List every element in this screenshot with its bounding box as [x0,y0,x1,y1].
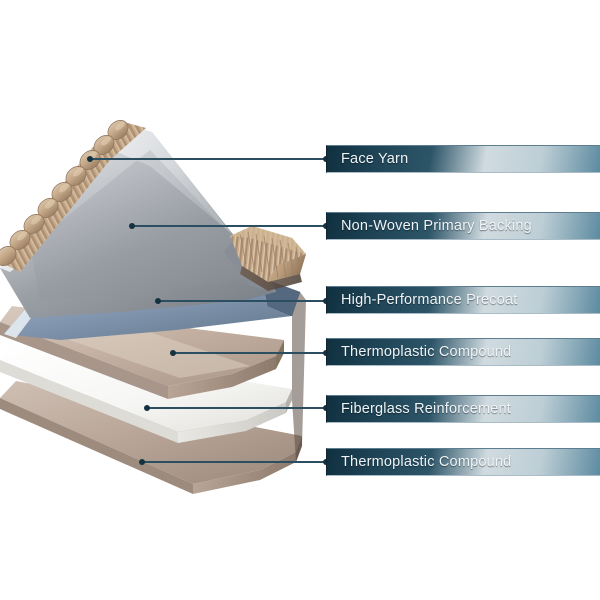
leader-line-face-yarn [90,158,326,160]
callout-label-non-woven-primary-backing: Non-Woven Primary Backing [327,218,532,234]
diagram-canvas: Face Yarn Non-Woven Primary Backing High… [0,0,600,600]
callout-label-thermoplastic-compound-upper: Thermoplastic Compound [327,344,511,360]
layer-artwork-precoat [4,278,300,340]
callout-high-performance-precoat[interactable]: High-Performance Precoat [326,286,600,314]
layer-artwork-fiberglass [0,344,292,443]
stack-cut-edge [292,292,306,462]
callout-label-face-yarn: Face Yarn [327,151,408,167]
layer-artwork-face-yarn [0,116,306,291]
leader-line-precoat [158,300,326,302]
callout-label-fiberglass-reinforcement: Fiberglass Reinforcement [327,401,511,417]
leader-line-primary-backing [132,225,326,227]
callout-label-thermoplastic-compound-bottom: Thermoplastic Compound [327,454,511,470]
callout-label-high-performance-precoat: High-Performance Precoat [327,292,517,308]
callout-non-woven-primary-backing[interactable]: Non-Woven Primary Backing [326,212,600,240]
callout-fiberglass-reinforcement[interactable]: Fiberglass Reinforcement [326,395,600,423]
callout-thermoplastic-compound-bottom[interactable]: Thermoplastic Compound [326,448,600,476]
leader-line-fiberglass [147,407,326,409]
callout-face-yarn[interactable]: Face Yarn [326,145,600,173]
layer-artwork-primary-backing [0,126,276,318]
layer-artwork-thermoplastic-bottom [0,381,302,494]
callout-thermoplastic-compound-upper[interactable]: Thermoplastic Compound [326,338,600,366]
leader-line-thermoplastic-bottom [142,461,326,463]
leader-line-thermoplastic-upper [173,352,326,354]
